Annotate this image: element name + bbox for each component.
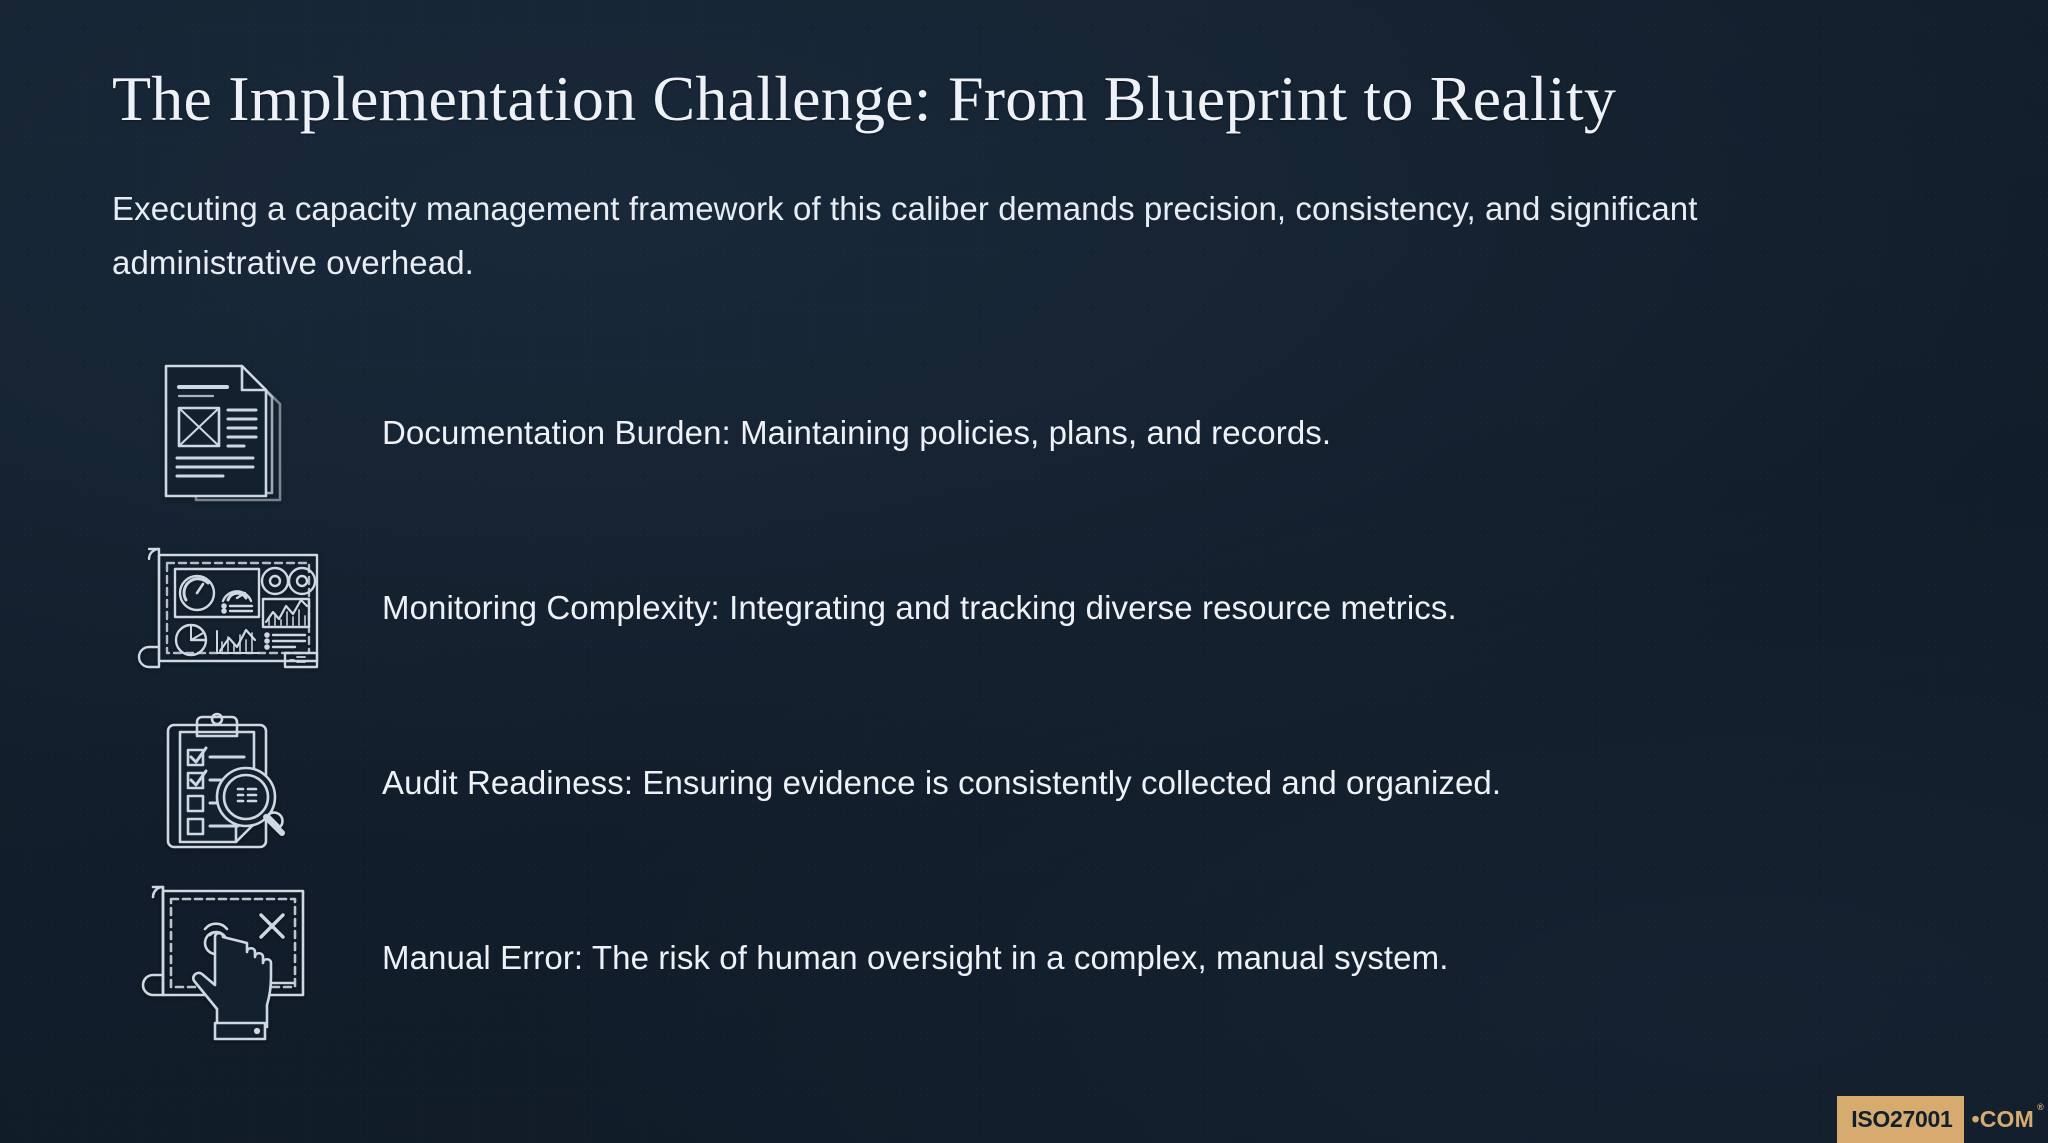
list-item-label: Audit Readiness: Ensuring evidence is co… [342, 761, 1501, 805]
documents-stack-icon [112, 345, 342, 520]
list-item: Manual Error: The risk of human oversigh… [112, 870, 1952, 1045]
list-item-label: Monitoring Complexity: Integrating and t… [342, 586, 1457, 630]
list-item-label: Manual Error: The risk of human oversigh… [342, 936, 1449, 980]
list-item: Documentation Burden: Maintaining polici… [112, 345, 1952, 520]
list-item-label: Documentation Burden: Maintaining polici… [342, 411, 1331, 455]
logo-mark-text: ISO27001 [1837, 1096, 1964, 1143]
logo-tld-text: •COM [1971, 1106, 2034, 1133]
registered-mark: ® [2037, 1102, 2044, 1112]
iso27001-logo[interactable]: ISO27001 •COM ® [1837, 1096, 2048, 1143]
page-title: The Implementation Challenge: From Bluep… [112, 62, 1942, 136]
list-item: Audit Readiness: Ensuring evidence is co… [112, 695, 1952, 870]
clipboard-magnifier-icon [112, 695, 342, 870]
slide-canvas: The Implementation Challenge: From Bluep… [0, 0, 2048, 1143]
challenge-list: Documentation Burden: Maintaining polici… [112, 345, 1952, 1045]
dashboard-blueprint-icon [112, 520, 342, 695]
hand-tap-screen-icon [112, 870, 342, 1045]
logo-tld: •COM ® [1964, 1096, 2048, 1143]
slide-subtitle: Executing a capacity management framewor… [112, 182, 1872, 290]
list-item: Monitoring Complexity: Integrating and t… [112, 520, 1952, 695]
